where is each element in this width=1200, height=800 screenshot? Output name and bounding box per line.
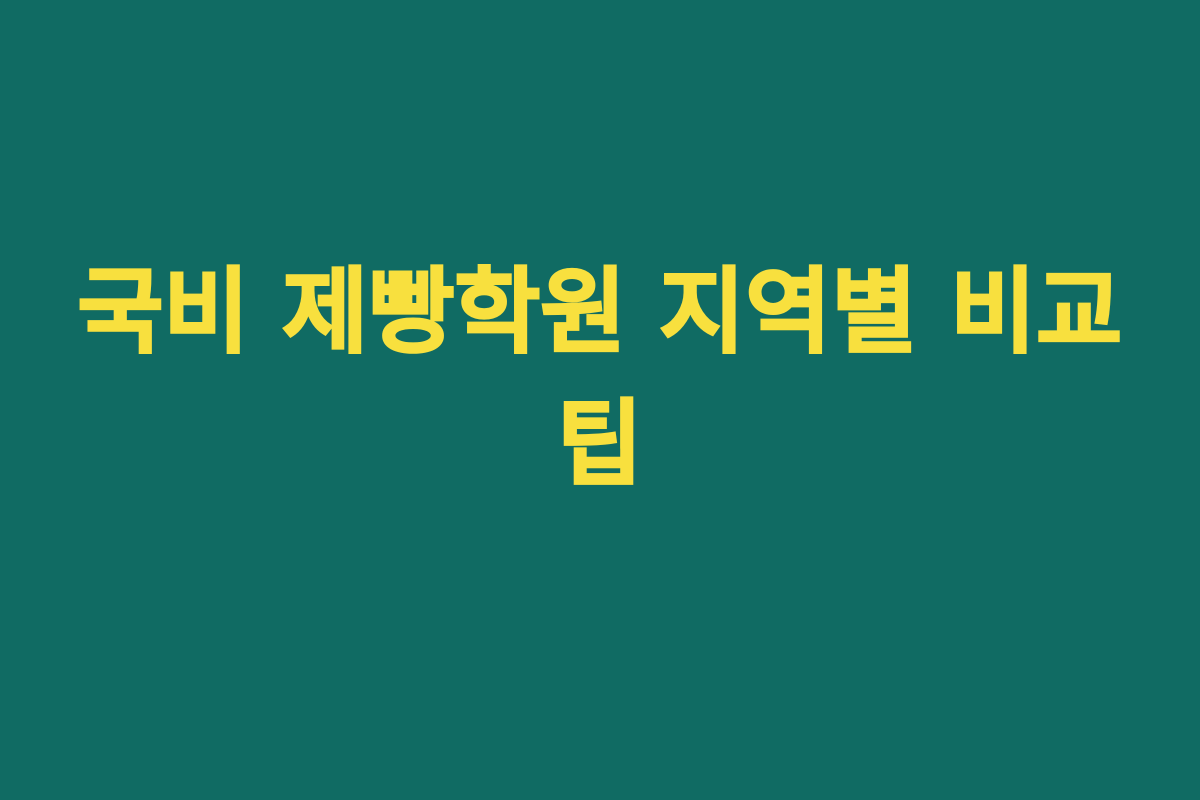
title-card-canvas: 국비 제빵학원 지역별 비교 팁	[0, 0, 1200, 800]
title-block: 국비 제빵학원 지역별 비교 팁	[75, 246, 1125, 510]
page-title: 국비 제빵학원 지역별 비교 팁	[75, 246, 1125, 510]
